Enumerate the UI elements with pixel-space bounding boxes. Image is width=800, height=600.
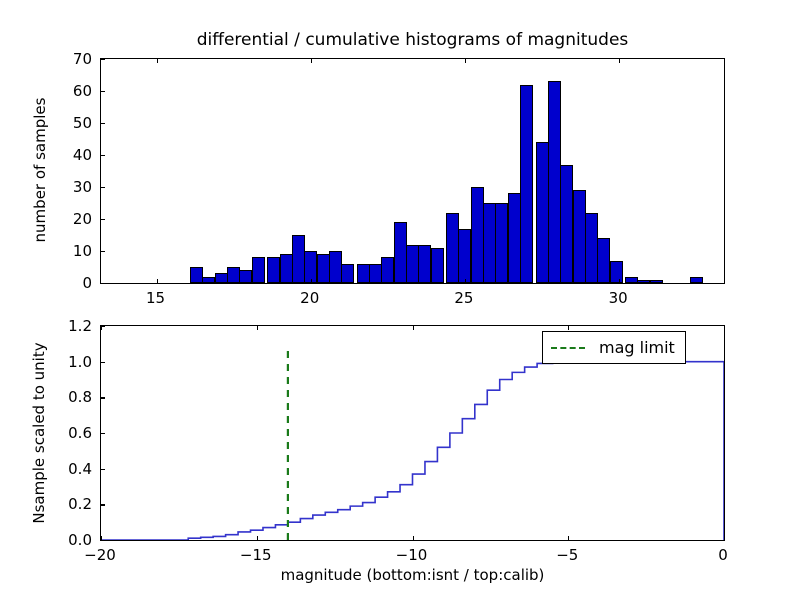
- y-tick-label: 20: [46, 211, 92, 227]
- x-tick-label: −15: [226, 546, 286, 564]
- x-tick-mark: [724, 536, 725, 540]
- histogram-bar: [418, 245, 431, 283]
- histogram-bar: [508, 193, 521, 283]
- x-tick-mark: [257, 326, 258, 330]
- y-tick-label: 10: [46, 243, 92, 259]
- histogram-bar: [483, 203, 496, 283]
- y-tick-mark: [101, 91, 105, 92]
- y-tick-mark: [101, 123, 105, 124]
- y-tick-label: 1.2: [46, 318, 92, 334]
- x-tick-mark: [257, 536, 258, 540]
- y-tick-label: 0.6: [46, 425, 92, 441]
- histogram-bar: [458, 229, 471, 283]
- histogram-bars: [101, 59, 724, 283]
- x-tick-label: −5: [537, 546, 597, 564]
- histogram-bar: [215, 273, 228, 283]
- x-tick-label: 15: [126, 289, 186, 307]
- histogram-bar: [610, 261, 623, 283]
- x-tick-mark: [157, 59, 158, 63]
- histogram-bar: [329, 251, 342, 283]
- histogram-bar: [292, 235, 305, 283]
- x-tick-mark: [568, 536, 569, 540]
- histogram-bar: [394, 222, 407, 283]
- x-tick-label: 0: [693, 546, 753, 564]
- x-tick-mark: [465, 59, 466, 63]
- top-panel-y-axis-label: number of samples: [31, 70, 49, 270]
- histogram-bar: [597, 238, 610, 283]
- y-tick-mark: [101, 219, 105, 220]
- y-tick-label: 70: [46, 51, 92, 67]
- x-tick-mark: [311, 279, 312, 283]
- histogram-bar: [560, 165, 573, 283]
- histogram-bar: [637, 280, 650, 283]
- y-tick-mark: [101, 433, 105, 434]
- legend[interactable]: mag limit: [542, 331, 686, 364]
- y-tick-label: 30: [46, 179, 92, 195]
- x-tick-mark: [101, 326, 102, 330]
- histogram-bar: [431, 248, 444, 283]
- histogram-bar: [357, 264, 370, 283]
- y-tick-label: 0.4: [46, 461, 92, 477]
- y-tick-label: 50: [46, 115, 92, 131]
- top-panel-axes: [100, 58, 725, 284]
- y-tick-mark: [101, 362, 105, 363]
- histogram-bar: [317, 254, 330, 283]
- y-tick-mark: [101, 155, 105, 156]
- x-tick-mark: [724, 326, 725, 330]
- histogram-bar: [573, 190, 586, 283]
- x-tick-label: −10: [382, 546, 442, 564]
- histogram-bar: [227, 267, 240, 283]
- legend-label-mag-limit: mag limit: [599, 338, 675, 357]
- x-tick-mark: [619, 279, 620, 283]
- y-tick-mark: [101, 59, 105, 60]
- y-tick-label: 0.2: [46, 496, 92, 512]
- y-tick-mark: [101, 397, 105, 398]
- dashed-line-icon: [551, 347, 585, 349]
- figure-title: differential / cumulative histograms of …: [100, 30, 725, 50]
- histogram-bar: [495, 203, 508, 283]
- y-tick-mark: [101, 540, 105, 541]
- y-tick-mark: [101, 283, 105, 284]
- x-tick-label: 30: [588, 289, 648, 307]
- histogram-bar: [406, 245, 419, 283]
- histogram-bar: [190, 267, 203, 283]
- cumulative-line: [101, 362, 724, 540]
- histogram-bar: [471, 187, 484, 283]
- y-tick-mark: [101, 251, 105, 252]
- x-tick-mark: [465, 279, 466, 283]
- histogram-bar: [548, 81, 561, 283]
- y-tick-label: 0.8: [46, 389, 92, 405]
- x-tick-mark: [311, 59, 312, 63]
- x-tick-mark: [101, 536, 102, 540]
- x-tick-label: 20: [280, 289, 340, 307]
- x-tick-label: 25: [434, 289, 494, 307]
- histogram-bar: [520, 85, 533, 283]
- y-tick-label: 60: [46, 83, 92, 99]
- histogram-bar: [280, 254, 293, 283]
- histogram-bar: [252, 257, 265, 283]
- histogram-bar: [446, 213, 459, 283]
- x-tick-mark: [413, 536, 414, 540]
- x-tick-label: −20: [70, 546, 130, 564]
- histogram-bar: [381, 257, 394, 283]
- y-tick-mark: [101, 504, 105, 505]
- y-tick-label: 1.0: [46, 354, 92, 370]
- x-tick-mark: [619, 59, 620, 63]
- histogram-bar: [369, 264, 382, 283]
- y-tick-label: 40: [46, 147, 92, 163]
- x-tick-mark: [568, 326, 569, 330]
- y-tick-mark: [101, 469, 105, 470]
- histogram-bar: [585, 213, 598, 283]
- histogram-bar: [202, 277, 215, 283]
- histogram-bar: [650, 280, 663, 283]
- y-tick-mark: [101, 187, 105, 188]
- histogram-bar: [267, 257, 280, 283]
- bottom-panel-x-axis-label: magnitude (bottom:isnt / top:calib): [100, 566, 725, 584]
- histogram-bar: [536, 142, 549, 283]
- y-tick-label: 0: [46, 275, 92, 291]
- histogram-bar: [690, 277, 703, 283]
- figure-canvas: differential / cumulative histograms of …: [0, 0, 800, 600]
- histogram-bar: [625, 277, 638, 283]
- histogram-bar: [239, 270, 252, 283]
- x-tick-mark: [157, 279, 158, 283]
- x-tick-mark: [413, 326, 414, 330]
- histogram-bar: [341, 264, 354, 283]
